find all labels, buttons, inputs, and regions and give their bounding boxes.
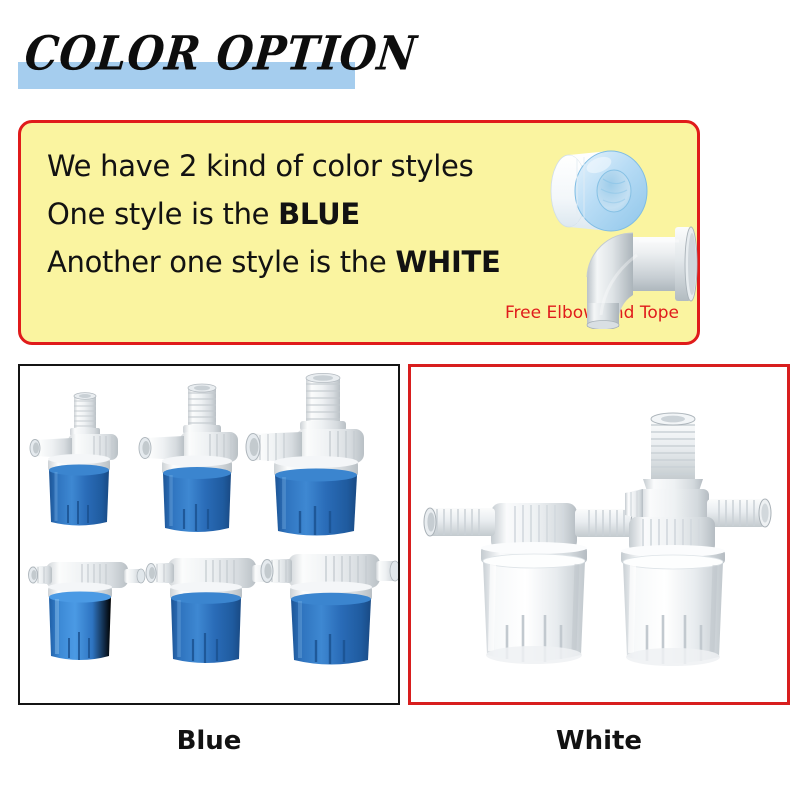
page-title: COLOR OPTION [22,26,419,81]
float-valve-blue-large-side [261,554,398,665]
float-valve-blue-large-vertical [246,373,364,535]
panel-caption-blue: Blue [18,726,400,756]
callout-line-3: Another one style is the WHITE [47,245,500,279]
float-valve-white-vertical [621,413,771,666]
pipe-elbow-icon [567,207,707,329]
color-option-callout: We have 2 kind of color styles One style… [18,120,700,345]
product-panel-white [408,364,790,705]
panel-caption-white: White [408,726,790,756]
blue-valves-illustration [20,366,398,703]
callout-line-1: We have 2 kind of color styles [47,149,473,183]
float-valve-blue-small-vertical [30,393,118,526]
product-panel-blue [18,364,400,705]
white-valves-illustration [411,367,787,702]
float-valve-white-side [424,503,643,664]
callout-keyword-white: WHITE [395,245,500,279]
float-valve-blue-medium-vertical [139,384,238,532]
callout-line-3-prefix: Another one style is the [47,245,395,279]
callout-keyword-blue: BLUE [278,197,360,231]
float-valve-blue-small-side [29,562,146,660]
title-block: COLOR OPTION [0,0,800,110]
callout-line-2: One style is the BLUE [47,197,360,231]
float-valve-blue-medium-side [146,558,278,663]
callout-line-2-prefix: One style is the [47,197,278,231]
